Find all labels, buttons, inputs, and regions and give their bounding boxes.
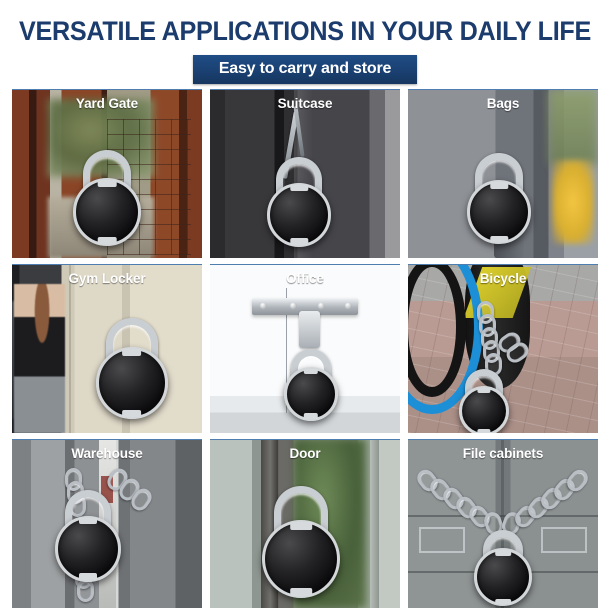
- padlock-icon: [93, 318, 171, 424]
- chain-decoration: [419, 469, 589, 539]
- padlock-icon: [71, 150, 143, 250]
- card-label-door: Door: [210, 439, 400, 467]
- padlock-icon: [283, 349, 339, 419]
- card-label-gym-locker: Gym Locker: [12, 264, 202, 292]
- padlock-icon: [465, 153, 533, 251]
- padlock-icon: [266, 157, 332, 253]
- card-label-office: Office: [210, 264, 400, 292]
- infographic-page: VERSATILE APPLICATIONS IN YOUR DAILY LIF…: [0, 0, 610, 610]
- card-gym-locker: Gym Locker: [12, 264, 202, 433]
- card-file-cabinets: File cabinets: [408, 439, 598, 608]
- card-door: Door: [210, 439, 400, 608]
- subtitle-banner: Easy to carry and store: [193, 55, 417, 84]
- card-label-bicycle: Bicycle: [408, 264, 598, 292]
- application-grid: Yard Gate Suitcase Bags: [12, 89, 598, 608]
- page-title: VERSATILE APPLICATIONS IN YOUR DAILY LIF…: [15, 0, 595, 45]
- card-label-suitcase: Suitcase: [210, 89, 400, 117]
- card-label-file-cabinets: File cabinets: [408, 439, 598, 467]
- card-label-warehouse: Warehouse: [12, 439, 202, 467]
- padlock-icon: [52, 490, 124, 590]
- card-warehouse: Warehouse: [12, 439, 202, 608]
- card-label-yard-gate: Yard Gate: [12, 89, 202, 117]
- card-suitcase: Suitcase: [210, 89, 400, 258]
- padlock-icon: [259, 486, 343, 602]
- card-office: Office: [210, 264, 400, 433]
- card-bicycle: Bicycle: [408, 264, 598, 433]
- card-bags: Bags: [408, 89, 598, 258]
- subtitle-container: Easy to carry and store: [0, 55, 610, 84]
- card-yard-gate: Yard Gate: [12, 89, 202, 258]
- padlock-icon: [473, 530, 533, 606]
- card-label-bags: Bags: [408, 89, 598, 117]
- padlock-icon: [458, 369, 510, 433]
